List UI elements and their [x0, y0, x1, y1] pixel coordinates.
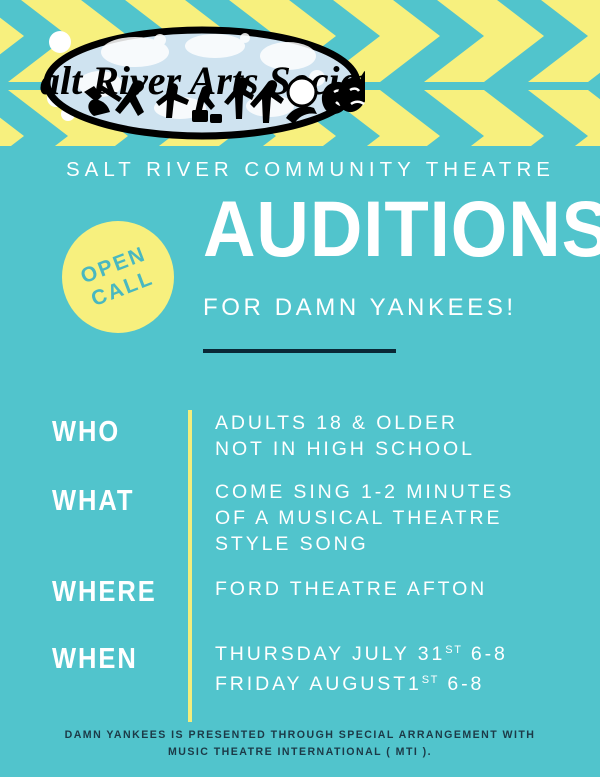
detail-line: ADULTS 18 & OLDER — [215, 410, 475, 436]
detail-line: OF A MUSICAL THEATRE — [215, 505, 514, 531]
detail-label-who: WHO — [52, 416, 120, 449]
footer-line-1: DAMN YANKEES IS PRESENTED THROUGH SPECIA… — [0, 727, 600, 744]
detail-label-where: WHERE — [52, 576, 157, 609]
detail-line: THURSDAY JULY 31ST 6-8 — [215, 637, 508, 667]
page-kicker: SALT RIVER COMMUNITY THEATRE — [66, 158, 536, 182]
detail-label-when: WHEN — [52, 643, 138, 676]
detail-line-time: 6-8 — [439, 673, 484, 695]
salt-river-arts-society-logo: Salt River Arts Society — [40, 22, 365, 144]
footer-line-2: MUSIC THEATRE INTERNATIONAL ( MTI ). — [0, 744, 600, 761]
vertical-divider — [188, 410, 192, 722]
detail-line-main: THURSDAY JULY 31 — [215, 643, 445, 665]
footer-credits: DAMN YANKEES IS PRESENTED THROUGH SPECIA… — [0, 727, 600, 761]
detail-line: NOT IN HIGH SCHOOL — [215, 436, 475, 462]
detail-line: STYLE SONG — [215, 531, 514, 557]
detail-line-time: 6-8 — [463, 643, 508, 665]
detail-line: FORD THEATRE AFTON — [215, 576, 487, 602]
detail-line-main: FRIDAY AUGUST1 — [215, 673, 422, 695]
ordinal-suffix: ST — [422, 674, 439, 686]
page-subtitle: FOR DAMN YANKEES! — [203, 294, 517, 322]
detail-value-when: THURSDAY JULY 31ST 6-8 FRIDAY AUGUST1ST … — [215, 637, 508, 697]
open-call-badge-text: OPEN CALL — [46, 205, 191, 350]
detail-value-what: COME SING 1-2 MINUTES OF A MUSICAL THEAT… — [215, 479, 514, 557]
detail-label-what: WHAT — [52, 485, 134, 518]
detail-line: FRIDAY AUGUST1ST 6-8 — [215, 667, 508, 697]
page-title: AUDITIONS — [203, 188, 553, 270]
detail-value-where: FORD THEATRE AFTON — [215, 576, 487, 602]
detail-line: COME SING 1-2 MINUTES — [215, 479, 514, 505]
divider-rule — [203, 349, 396, 353]
detail-value-who: ADULTS 18 & OLDER NOT IN HIGH SCHOOL — [215, 410, 475, 462]
logo-svg: Salt River Arts Society — [40, 22, 365, 144]
audition-poster: Salt River Arts Society — [0, 0, 600, 777]
open-call-badge: OPEN CALL — [62, 221, 174, 333]
ordinal-suffix: ST — [445, 644, 462, 656]
